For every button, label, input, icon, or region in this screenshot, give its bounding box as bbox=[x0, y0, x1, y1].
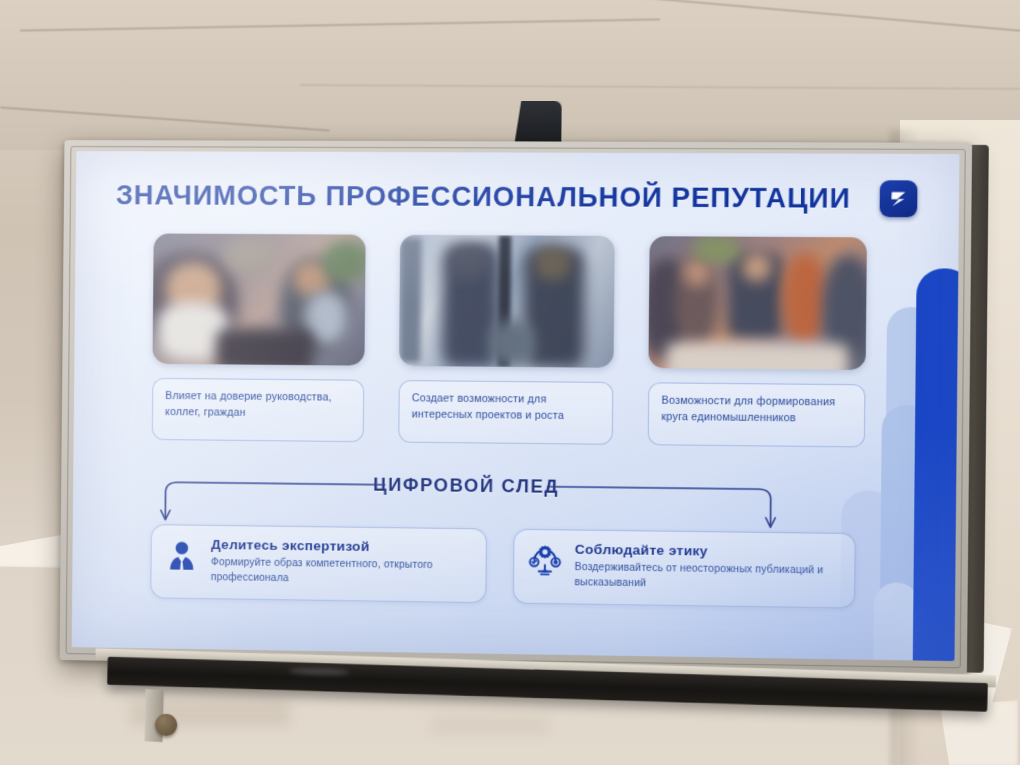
room-scene: ЗНАЧИМОСТЬ ПРОФЕССИОНАЛЬНОЙ РЕПУТАЦИИ bbox=[0, 0, 1020, 765]
decorative-bar bbox=[912, 593, 959, 661]
wall-light-reflection bbox=[0, 534, 66, 568]
benefit-card: Влияет на доверие руководства, коллег, г… bbox=[152, 233, 366, 442]
benefit-card: Создает возможности для интересных проек… bbox=[398, 235, 615, 445]
wall-mount-knob bbox=[155, 714, 177, 736]
tip-title: Соблюдайте этику bbox=[575, 542, 840, 561]
tip-card-body: Делитесь экспертизой Формируйте образ ко… bbox=[211, 537, 472, 589]
benefit-cards: Влияет на доверие руководства, коллег, г… bbox=[152, 233, 869, 447]
tip-card-follow-ethics[interactable]: Соблюдайте этику Воздерживайтесь от неос… bbox=[513, 529, 856, 608]
tip-card-share-expertise[interactable]: Делитесь экспертизой Формируйте образ ко… bbox=[150, 524, 487, 603]
section-label: ЦИФРОВОЙ СЛЕД bbox=[373, 475, 559, 498]
soundbar-highlight bbox=[289, 667, 350, 676]
tip-description: Воздерживайтесь от неосторожных публикац… bbox=[574, 560, 839, 595]
display-screen[interactable]: ЗНАЧИМОСТЬ ПРОФЕССИОНАЛЬНОЙ РЕПУТАЦИИ bbox=[72, 151, 960, 661]
display-bezel: ЗНАЧИМОСТЬ ПРОФЕССИОНАЛЬНОЙ РЕПУТАЦИИ bbox=[60, 140, 973, 675]
person-in-suit-icon bbox=[165, 538, 200, 573]
tip-description: Формируйте образ компетентного, открытог… bbox=[211, 555, 472, 589]
slide-header: ЗНАЧИМОСТЬ ПРОФЕССИОНАЛЬНОЙ РЕПУТАЦИИ bbox=[76, 177, 959, 217]
photo-desk-consultation bbox=[152, 233, 365, 365]
benefit-card-text: Возможности для формирования круга едино… bbox=[648, 382, 866, 447]
benefit-card-text: Влияет на доверие руководства, коллег, г… bbox=[152, 378, 365, 442]
photo-office-handshake bbox=[399, 235, 615, 368]
tip-title: Делитесь экспертизой bbox=[211, 537, 472, 556]
photo-team-meeting bbox=[648, 236, 866, 370]
digital-footprint-band: ЦИФРОВОЙ СЛЕД bbox=[147, 470, 790, 532]
slide-title: ЗНАЧИМОСТЬ ПРОФЕССИОНАЛЬНОЙ РЕПУТАЦИИ bbox=[116, 180, 851, 215]
tip-cards: Делитесь экспертизой Формируйте образ ко… bbox=[150, 524, 855, 608]
webcam-icon bbox=[514, 101, 562, 146]
wall-mounted-display[interactable]: ЗНАЧИМОСТЬ ПРОФЕССИОНАЛЬНОЙ РЕПУТАЦИИ bbox=[60, 140, 973, 675]
tip-card-body: Соблюдайте этику Воздерживайтесь от неос… bbox=[574, 542, 840, 595]
wall-smudge bbox=[430, 716, 550, 736]
z-logo bbox=[880, 180, 918, 217]
balance-scale-gear-icon bbox=[527, 543, 562, 578]
benefit-card-text: Создает возможности для интересных проек… bbox=[398, 380, 613, 445]
presentation-slide: ЗНАЧИМОСТЬ ПРОФЕССИОНАЛЬНОЙ РЕПУТАЦИИ bbox=[72, 151, 960, 661]
benefit-card: Возможности для формирования круга едино… bbox=[648, 236, 867, 447]
